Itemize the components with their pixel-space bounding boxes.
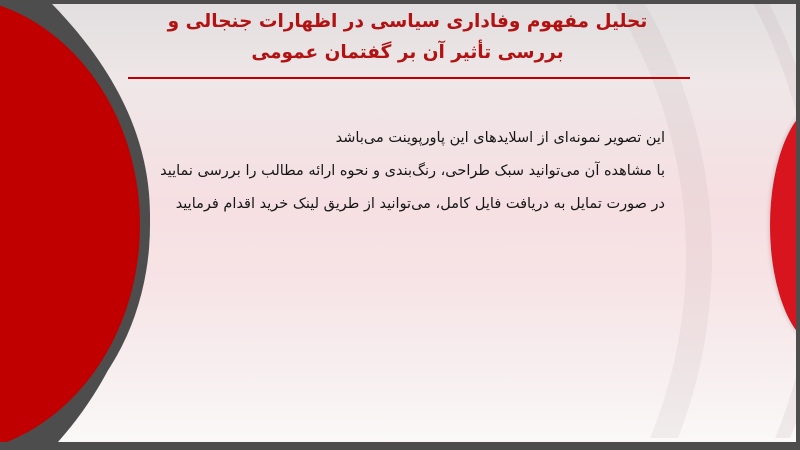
frame-edge-top	[0, 0, 800, 4]
frame-edge-bottom	[0, 442, 800, 450]
title-line-2: بررسی تأثیر آن بر گفتمان عمومی	[120, 37, 695, 68]
body-line-3: در صورت تمایل به دریافت فایل کامل، می‌تو…	[105, 188, 665, 221]
slide-title: تحلیل مفهوم وفاداری سیاسی در اظهارات جنج…	[120, 6, 695, 68]
title-underline-rule	[128, 77, 690, 79]
slide-body-text: این تصویر نمونه‌ای از اسلایدهای این پاور…	[105, 122, 665, 221]
body-line-1: این تصویر نمونه‌ای از اسلایدهای این پاور…	[105, 122, 665, 155]
frame-edge-right	[796, 0, 800, 450]
body-line-2: با مشاهده آن می‌توانید سبک طراحی، رنگ‌بن…	[105, 155, 665, 188]
title-line-1: تحلیل مفهوم وفاداری سیاسی در اظهارات جنج…	[120, 6, 695, 37]
slide-canvas: تحلیل مفهوم وفاداری سیاسی در اظهارات جنج…	[0, 0, 800, 450]
